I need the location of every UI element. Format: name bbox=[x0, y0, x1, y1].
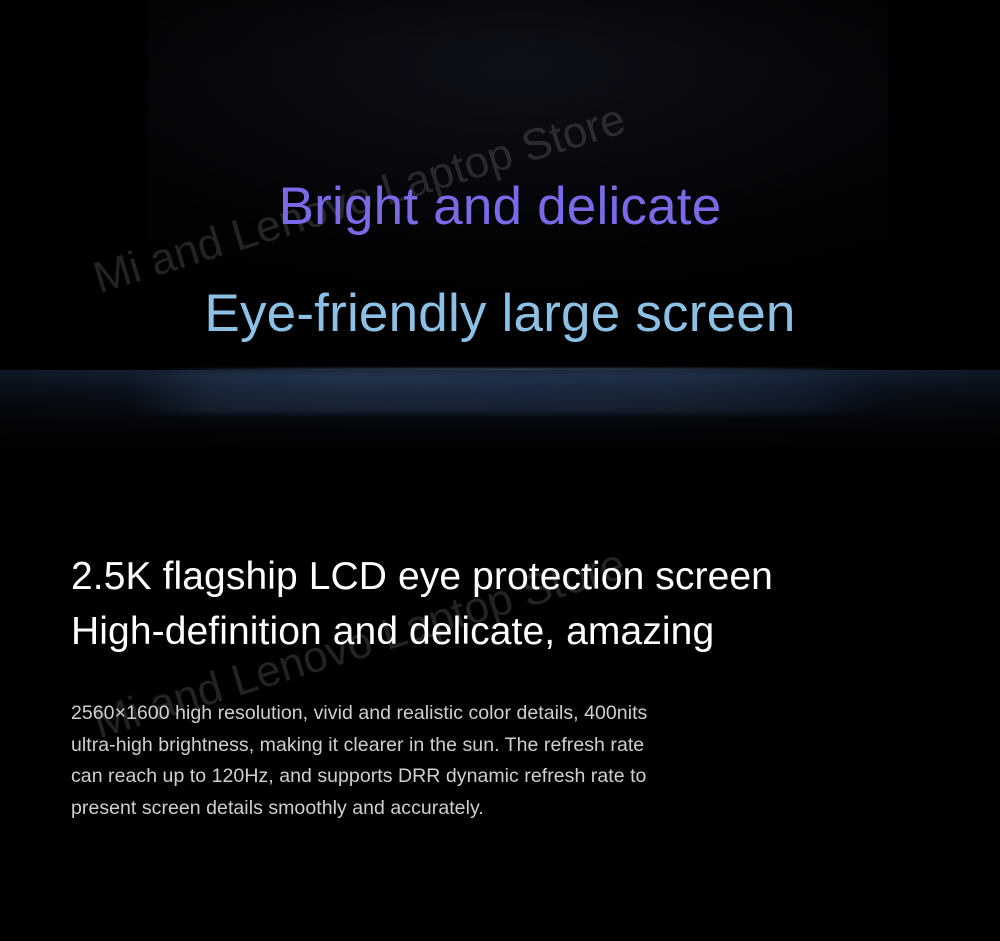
laptop-base-sheen bbox=[120, 372, 890, 414]
description-line: 2560×1600 high resolution, vivid and rea… bbox=[71, 698, 891, 730]
description-line: present screen details smoothly and accu… bbox=[71, 793, 891, 825]
content-block: 2.5K flagship LCD eye protection screen … bbox=[71, 552, 971, 825]
hero-headline-line1: Bright and delicate bbox=[0, 176, 1000, 239]
content-heading-line2: High-definition and delicate, amazing bbox=[71, 607, 971, 656]
product-feature-banner: Mi and Lenovo Laptop Store Mi and Lenovo… bbox=[0, 0, 1000, 941]
description-line: can reach up to 120Hz, and supports DRR … bbox=[71, 761, 891, 793]
description-line: ultra-high brightness, making it clearer… bbox=[71, 730, 891, 762]
content-heading-line1: 2.5K flagship LCD eye protection screen bbox=[71, 552, 971, 601]
hero-headline: Bright and delicate Eye-friendly large s… bbox=[0, 176, 1000, 345]
hero-headline-line2: Eye-friendly large screen bbox=[0, 283, 1000, 346]
content-description: 2560×1600 high resolution, vivid and rea… bbox=[71, 698, 891, 824]
